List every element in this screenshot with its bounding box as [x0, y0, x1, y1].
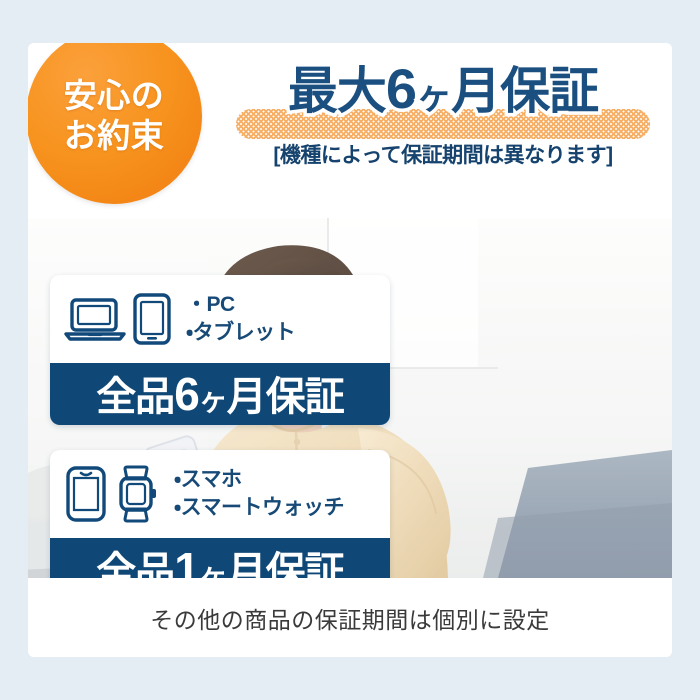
warranty-card-mobile-banner: 全品1ヶ月保証 — [50, 538, 390, 578]
assurance-badge-line-1: 安心の — [64, 76, 165, 116]
smartphone-icon — [64, 465, 108, 523]
warranty-card-pc-top: ・PC ・タブレット — [50, 275, 390, 363]
headline-unit: ヶ — [416, 75, 451, 116]
headline-group: 最大6ヶ月保証 — [228, 61, 658, 117]
banner-unit: ヶ — [199, 385, 227, 417]
warranty-card-mobile-top: ・スマホ ・スマートウォッチ — [50, 450, 390, 538]
warranty-banner-card: 最大6ヶ月保証 [機種によって保証期間は異なります] 安心の お約束 — [28, 43, 672, 657]
banner-unit: ヶ — [199, 560, 227, 578]
laptop-icon — [64, 294, 126, 344]
tablet-icon — [132, 292, 172, 346]
headline-subtext: [機種によって保証期間は異なります] — [228, 139, 658, 169]
bullet-item: ・スマホ — [174, 466, 344, 494]
page-title: 最大6ヶ月保証 — [228, 61, 658, 117]
headline-prefix: 最大 — [288, 63, 386, 119]
warranty-card-mobile-bullets: ・スマホ ・スマートウォッチ — [174, 466, 344, 521]
headline-number: 6 — [386, 57, 416, 120]
headline-suffix: 月保証 — [451, 63, 598, 119]
assurance-badge: 安心の お約束 — [28, 43, 202, 204]
warranty-card-mobile: ・スマホ ・スマートウォッチ 全品1ヶ月保証 — [50, 450, 390, 578]
warranty-card-mobile-icons — [64, 465, 160, 523]
banner-prefix: 全品 — [96, 375, 174, 419]
warranty-card-mobile-banner-text: 全品1ヶ月保証 — [96, 546, 344, 578]
bullet-item: ・PC — [186, 291, 295, 319]
banner-prefix: 全品 — [96, 550, 174, 578]
footer-note: その他の商品の保証期間は個別に設定 — [150, 601, 550, 635]
banner-footer: その他の商品の保証期間は個別に設定 — [28, 578, 672, 657]
banner-suffix: 月保証 — [227, 375, 344, 419]
warranty-card-pc: ・PC ・タブレット 全品6ヶ月保証 — [50, 275, 390, 425]
warranty-card-pc-banner: 全品6ヶ月保証 — [50, 363, 390, 425]
warranty-card-pc-icons — [64, 292, 172, 346]
bullet-item: ・スマートウォッチ — [174, 494, 344, 522]
warranty-card-pc-bullets: ・PC ・タブレット — [186, 291, 295, 346]
banner-number: 6 — [174, 368, 199, 420]
bullet-item: ・タブレット — [186, 319, 295, 347]
lifestyle-photo: ・PC ・タブレット 全品6ヶ月保証 — [28, 218, 672, 578]
banner-header: 最大6ヶ月保証 [機種によって保証期間は異なります] 安心の お約束 — [28, 43, 672, 218]
banner-number: 1 — [174, 543, 199, 578]
banner-suffix: 月保証 — [227, 550, 344, 578]
smartwatch-icon — [114, 465, 160, 523]
assurance-badge-line-2: お約束 — [64, 116, 165, 156]
warranty-card-pc-banner-text: 全品6ヶ月保証 — [96, 371, 344, 417]
